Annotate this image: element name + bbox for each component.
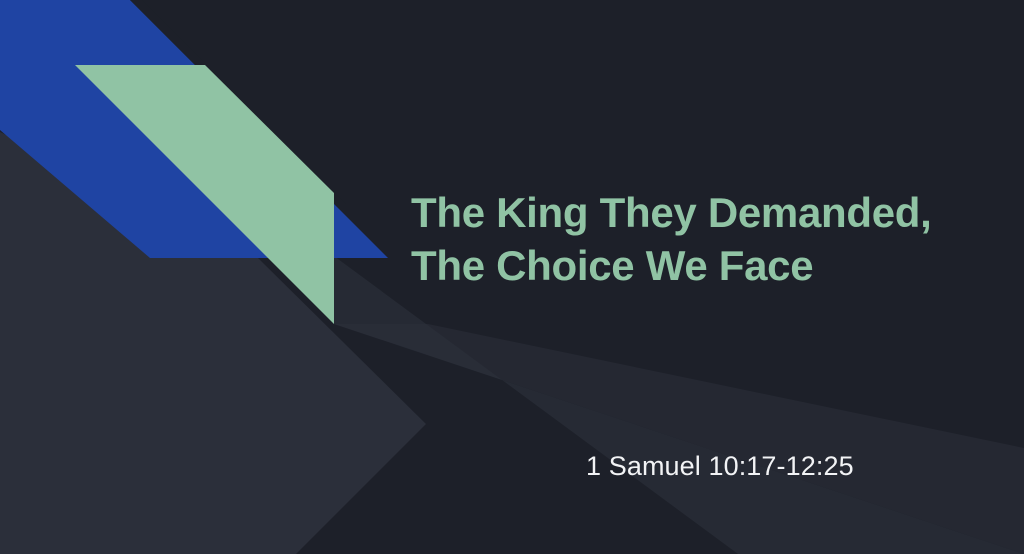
scripture-reference: 1 Samuel 10:17-12:25 — [586, 450, 986, 482]
shape-separator-gap — [130, 0, 346, 204]
subtitle-block: 1 Samuel 10:17-12:25 — [586, 450, 986, 482]
green-parallelogram — [75, 65, 334, 324]
secondary-shadow-band — [334, 324, 1024, 554]
title-block: The King They Demanded, The Choice We Fa… — [411, 186, 991, 293]
blue-shape-long-shadow — [0, 132, 426, 554]
page-title: The King They Demanded, The Choice We Fa… — [411, 186, 991, 293]
blue-parallelogram — [0, 0, 388, 258]
presentation-slide: The King They Demanded, The Choice We Fa… — [0, 0, 1024, 554]
